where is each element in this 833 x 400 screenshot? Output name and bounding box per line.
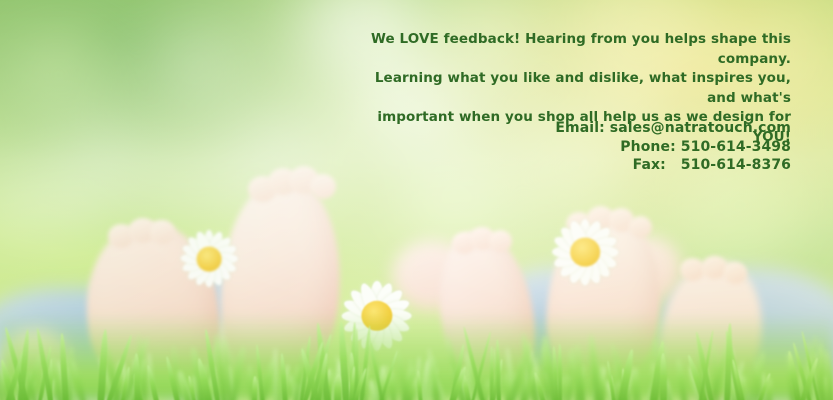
phone-line[interactable]: Phone: 510-614-3498 [361,138,791,157]
daisy-center [197,247,222,272]
toe [489,230,512,252]
contact-details: Email: sales@natratouch.com Phone: 510-6… [361,119,791,175]
daisy-center [570,238,600,267]
contact-banner: We LOVE feedback! Hearing from you helps… [0,0,833,400]
toe [702,256,727,279]
toe [310,174,336,199]
message-line-2: Learning what you like and dislike, what… [361,69,791,108]
grass-blade [273,348,278,400]
grass-blade [557,344,562,400]
grass-blade [252,376,258,400]
grass-blade [334,374,341,400]
daisy-flower [548,216,622,288]
grass-foreground [0,280,833,400]
toe [629,216,652,238]
grass-blade [659,353,666,400]
email-line[interactable]: Email: sales@natratouch.com [361,119,791,138]
fax-line: Fax: 510-614-8376 [361,156,791,175]
toe [150,220,175,244]
message-line-1: We LOVE feedback! Hearing from you helps… [361,30,791,69]
